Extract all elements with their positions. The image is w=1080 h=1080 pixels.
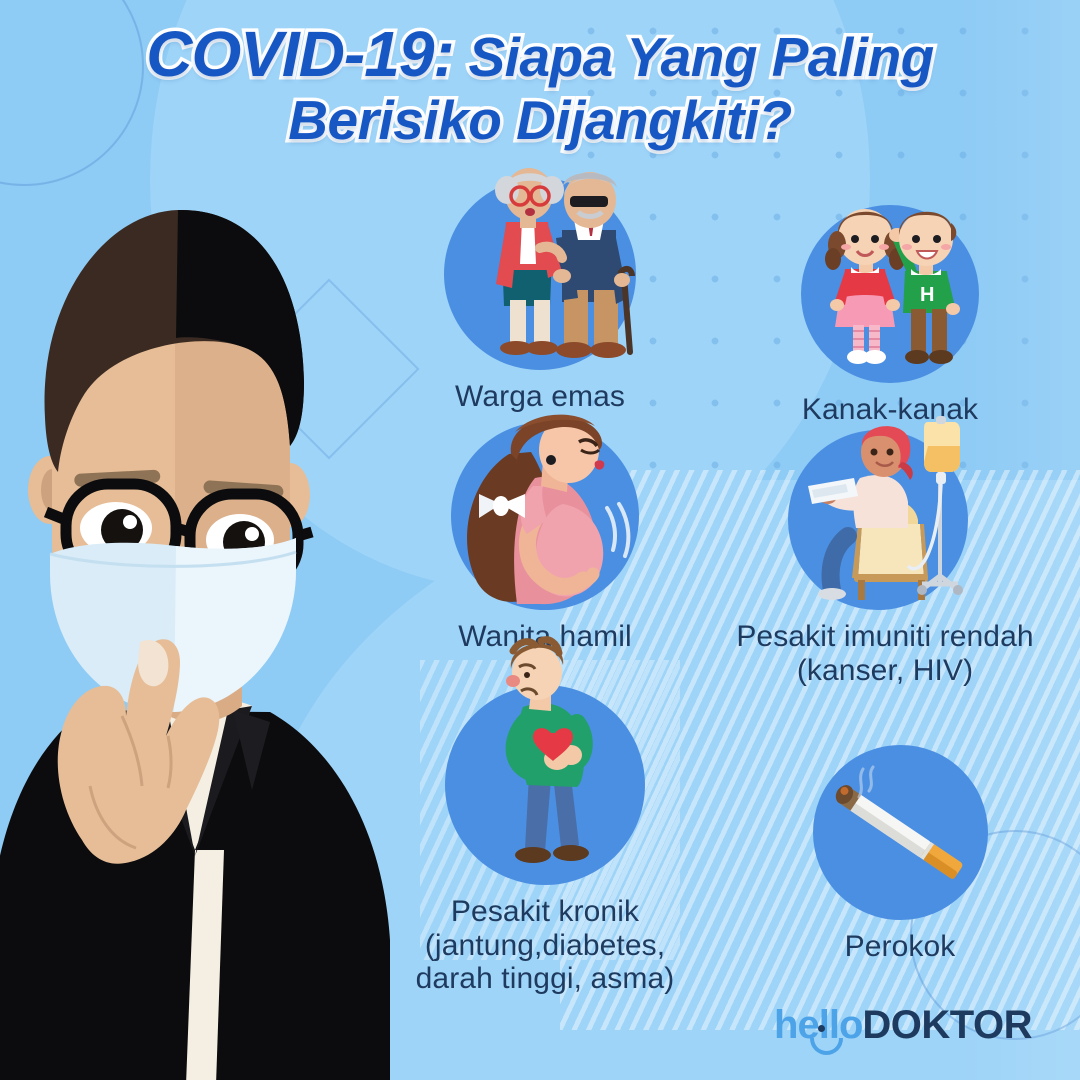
page-title: COVID-19: Siapa Yang Paling Berisiko Dij… <box>0 22 1080 149</box>
svg-text:H: H <box>920 284 934 306</box>
chemotherapy-patient-icon <box>788 430 968 610</box>
cigarette-icon <box>813 745 988 920</box>
risk-item-perokok: Perokok <box>775 745 1025 964</box>
logo-doktor-text: DOKTOR <box>862 1003 1032 1048</box>
pregnant-woman-icon <box>451 422 639 610</box>
risk-item-wanita-hamil: Wanita hamil <box>420 422 670 654</box>
title-covid-label: COVID-19: <box>146 18 454 90</box>
risk-item-label: Pesakit imuniti rendah (kanser, HIV) <box>700 620 1070 687</box>
infographic-canvas: COVID-19: Siapa Yang Paling Berisiko Dij… <box>0 0 1080 1080</box>
risk-item-label: Perokok <box>775 930 1025 964</box>
title-line1-rest: Siapa Yang Paling <box>454 26 934 88</box>
risk-item-kanak-kanak: H Kanak-kanak <box>765 205 1015 427</box>
hellodoktor-logo: hello DOKTOR <box>774 1003 1032 1048</box>
masked-man-illustration <box>0 150 420 1080</box>
risk-item-label: Pesakit kronik (jantung,diabetes, darah … <box>405 895 685 996</box>
title-line2: Berisiko Dijangkiti? <box>34 92 1046 149</box>
elderly-couple-icon <box>444 178 636 370</box>
risk-item-pesakit-imuniti-rendah: Pesakit imuniti rendah (kanser, HIV) <box>700 430 1070 687</box>
chest-pain-man-icon <box>445 685 645 885</box>
children-icon: H <box>801 205 979 383</box>
risk-item-warga-emas: Warga emas <box>415 178 665 414</box>
risk-item-pesakit-kronik: Pesakit kronik (jantung,diabetes, darah … <box>405 685 685 996</box>
logo-eye-icon <box>818 1025 825 1032</box>
